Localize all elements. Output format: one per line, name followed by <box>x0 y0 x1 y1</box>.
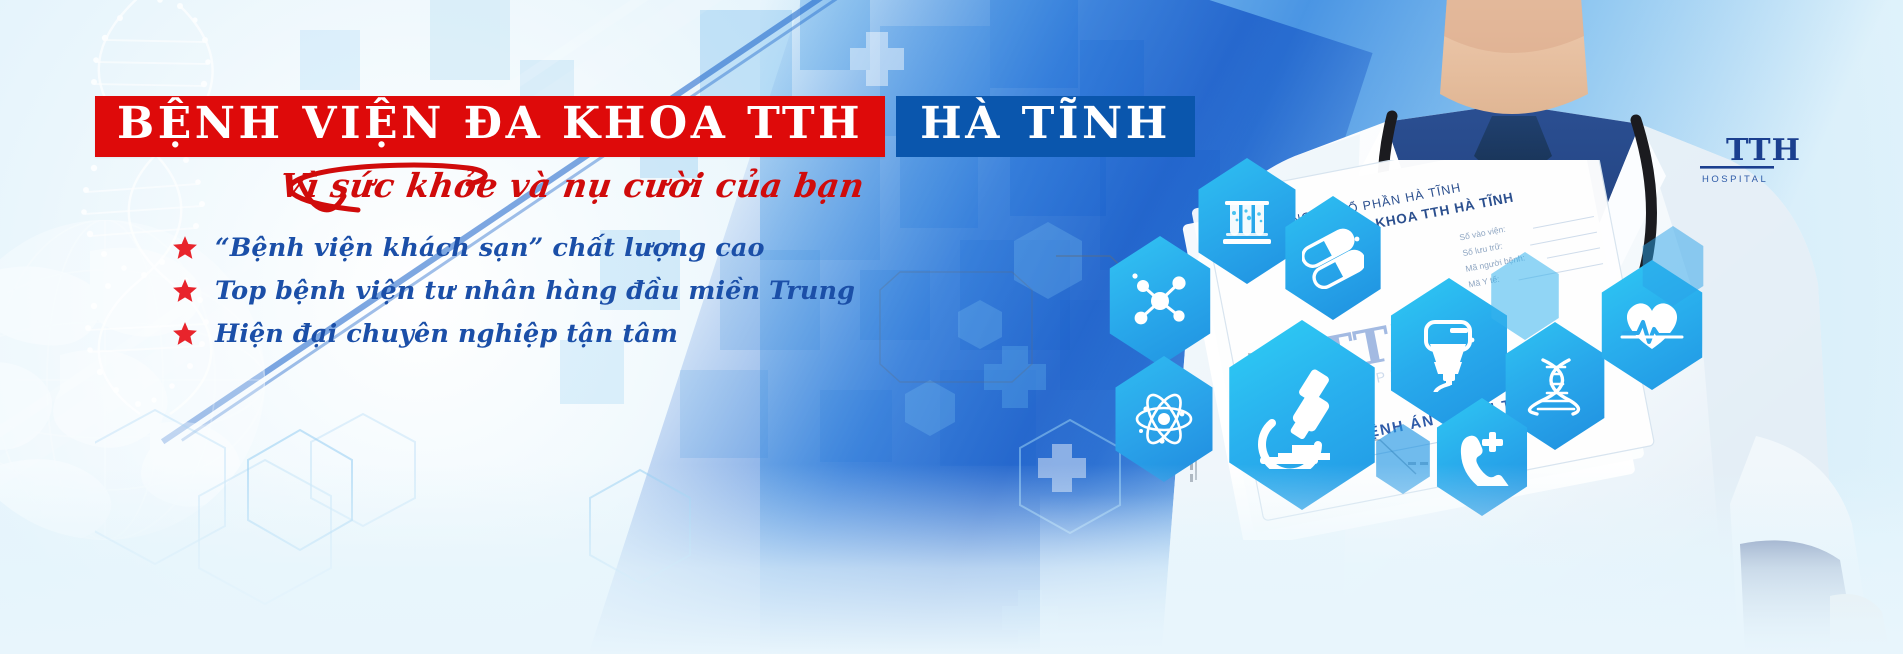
molecule-icon <box>1127 268 1193 334</box>
bottom-fade <box>0 464 1903 654</box>
svg-text:HOSPITAL: HOSPITAL <box>1702 174 1768 185</box>
star-icon <box>172 235 198 261</box>
hospital-name-red-block: BỆNH VIỆN ĐA KHOA TTH <box>95 96 885 157</box>
list-item: “Bệnh viện khách sạn” chất lượng cao <box>172 226 855 269</box>
capsule-pill-icon <box>1302 227 1364 289</box>
svg-text:TTH: TTH <box>1726 133 1801 168</box>
iv-drip-icon <box>1410 314 1488 392</box>
star-icon <box>172 321 198 347</box>
list-item: Top bệnh viện tư nhân hàng đầu miền Trun… <box>172 269 855 312</box>
list-item-label: Hiện đại chuyên nghiệp tận tâm <box>215 319 678 349</box>
list-item-label: “Bệnh viện khách sạn” chất lượng cao <box>215 233 765 263</box>
tagline-wrap: Vì sức khỏe và nụ cười của bạn <box>245 158 805 224</box>
feature-bullet-list: “Bệnh viện khách sạn” chất lượng cao Top… <box>172 226 855 355</box>
test-tubes-icon <box>1215 189 1279 253</box>
microscope-icon <box>1248 361 1356 469</box>
tagline-text: Vì sức khỏe và nụ cười của bạn <box>277 166 867 205</box>
banner-root: BỆNH VIỆN ĐA KHOA TTH HÀ TĨNH Vì sức khỏ… <box>0 0 1903 654</box>
list-item-label: Top bệnh viện tư nhân hàng đầu miền Trun… <box>215 276 855 306</box>
list-item: Hiện đại chuyên nghiệp tận tâm <box>172 312 855 355</box>
star-icon <box>172 278 198 304</box>
dna-helix-icon <box>1523 354 1587 418</box>
atom-icon <box>1132 387 1196 451</box>
